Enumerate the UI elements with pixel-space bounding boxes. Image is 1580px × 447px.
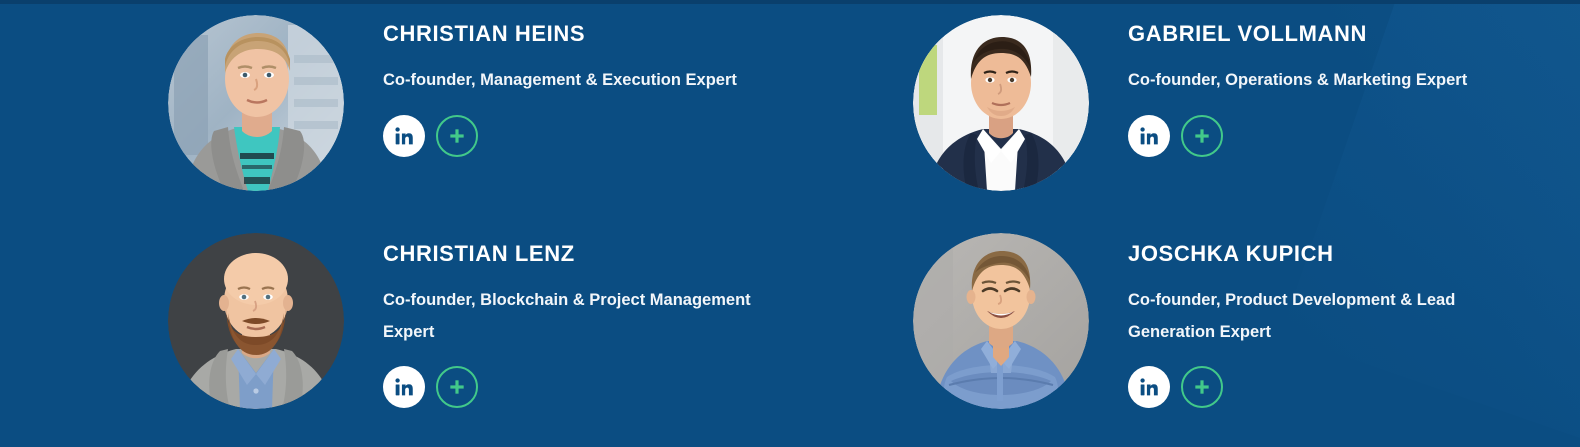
plus-glyph — [1192, 377, 1212, 397]
team-section: CHRISTIAN HEINS Co-founder, Management &… — [0, 0, 1580, 447]
plus-glyph — [1192, 126, 1212, 146]
plus-icon[interactable] — [1181, 366, 1223, 408]
member-role: Co-founder, Management & Execution Exper… — [383, 64, 737, 96]
avatar-image-gabriel-vollmann — [913, 15, 1089, 191]
member-info: CHRISTIAN HEINS Co-founder, Management &… — [383, 6, 737, 157]
section-top-edge — [0, 0, 1580, 4]
avatar — [168, 233, 344, 409]
member-name: CHRISTIAN HEINS — [383, 22, 737, 46]
linkedin-glyph — [394, 126, 414, 146]
team-member-card: CHRISTIAN HEINS Co-founder, Management &… — [22, 6, 767, 228]
member-name: JOSCHKA KUPICH — [1128, 242, 1512, 266]
social-links — [383, 366, 767, 408]
team-member-card: GABRIEL VOLLMANN Co-founder, Operations … — [767, 6, 1512, 228]
member-name: CHRISTIAN LENZ — [383, 242, 767, 266]
member-role: Co-founder, Operations & Marketing Exper… — [1128, 64, 1467, 96]
linkedin-glyph — [1139, 126, 1159, 146]
linkedin-glyph — [1139, 377, 1159, 397]
avatar — [913, 233, 1089, 409]
avatar-image-christian-heins — [168, 15, 344, 191]
social-links — [1128, 366, 1512, 408]
member-info: JOSCHKA KUPICH Co-founder, Product Devel… — [1128, 228, 1512, 408]
social-links — [383, 115, 737, 157]
avatar — [913, 15, 1089, 191]
social-links — [1128, 115, 1467, 157]
team-grid: CHRISTIAN HEINS Co-founder, Management &… — [0, 0, 1580, 447]
linkedin-icon[interactable] — [1128, 115, 1170, 157]
plus-icon[interactable] — [436, 366, 478, 408]
linkedin-icon[interactable] — [383, 115, 425, 157]
avatar-image-joschka-kupich — [913, 233, 1089, 409]
plus-icon[interactable] — [1181, 115, 1223, 157]
linkedin-icon[interactable] — [1128, 366, 1170, 408]
avatar — [168, 15, 344, 191]
member-info: GABRIEL VOLLMANN Co-founder, Operations … — [1128, 6, 1467, 157]
plus-glyph — [447, 126, 467, 146]
linkedin-glyph — [394, 377, 414, 397]
plus-glyph — [447, 377, 467, 397]
member-name: GABRIEL VOLLMANN — [1128, 22, 1467, 46]
member-role: Co-founder, Product Development & Lead G… — [1128, 284, 1512, 348]
team-member-card: CHRISTIAN LENZ Co-founder, Blockchain & … — [22, 228, 767, 447]
member-role: Co-founder, Blockchain & Project Managem… — [383, 284, 767, 348]
linkedin-icon[interactable] — [383, 366, 425, 408]
team-member-card: JOSCHKA KUPICH Co-founder, Product Devel… — [767, 228, 1512, 447]
plus-icon[interactable] — [436, 115, 478, 157]
member-info: CHRISTIAN LENZ Co-founder, Blockchain & … — [383, 228, 767, 408]
avatar-image-christian-lenz — [168, 233, 344, 409]
